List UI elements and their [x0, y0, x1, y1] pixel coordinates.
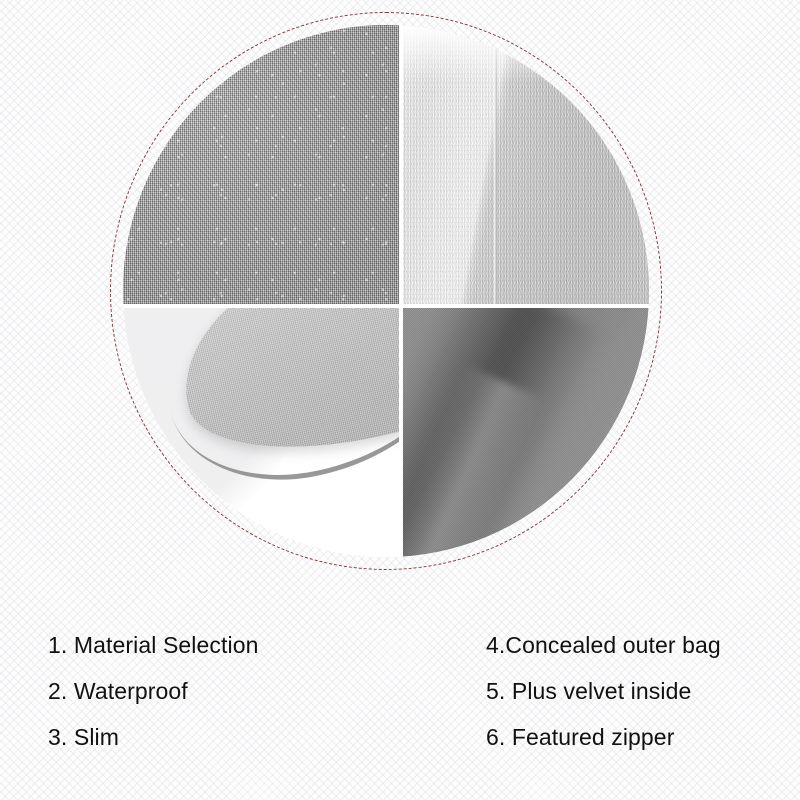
quadrant-velvet-lining: [403, 25, 649, 304]
quadrant-horizontal-divider: [123, 304, 649, 308]
feature-item-5: 5. Plus velvet inside: [486, 668, 800, 714]
quadrant-concealed-outer-bag: [403, 308, 649, 557]
velvet-top-highlight: [403, 25, 649, 83]
photo-collage-circle: [123, 25, 649, 557]
feature-item-1: 1. Material Selection: [48, 622, 400, 668]
quadrant-vertical-divider: [399, 25, 403, 557]
quadrant-featured-zipper: [123, 308, 399, 557]
feature-item-4: 4.Concealed outer bag: [486, 622, 800, 668]
feature-list-left-column: 1. Material Selection 2. Waterproof 3. S…: [0, 622, 400, 782]
feature-item-3: 3. Slim: [48, 714, 400, 760]
feature-list-right-column: 4.Concealed outer bag 5. Plus velvet ins…: [400, 622, 800, 782]
feature-list: 1. Material Selection 2. Waterproof 3. S…: [0, 622, 800, 782]
feature-item-2: 2. Waterproof: [48, 668, 400, 714]
product-feature-collage: [110, 12, 662, 570]
feature-item-6: 6. Featured zipper: [486, 714, 800, 760]
quadrant-material-selection: [123, 25, 399, 304]
linen-fabric-speckles: [123, 25, 399, 304]
